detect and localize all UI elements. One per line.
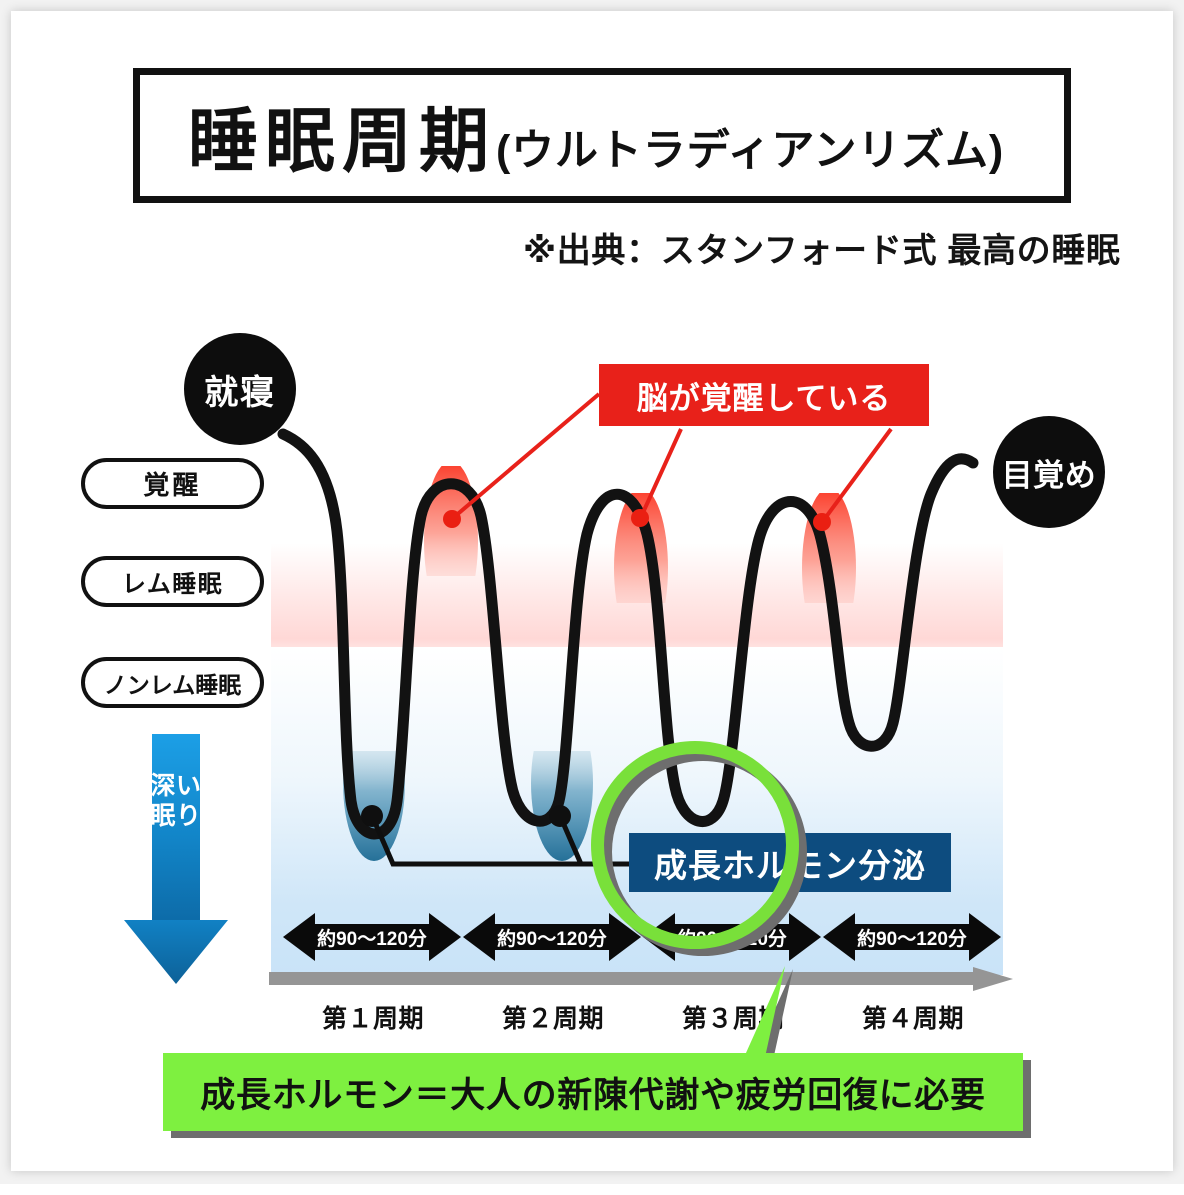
highlight-ring-icon bbox=[591, 741, 799, 949]
infographic-canvas: 睡眠周期(ウルトラディアンリズム) ※出典：スタンフォード式 最高の睡眠 覚醒 … bbox=[0, 0, 1184, 1184]
bottom-banner: 成長ホルモン＝大人の新陳代謝や疲労回復に必要 bbox=[163, 1053, 1023, 1131]
bottom-banner-text: 成長ホルモン＝大人の新陳代謝や疲労回復に必要 bbox=[200, 1067, 985, 1118]
sleep-cycle-curve bbox=[11, 11, 1184, 1195]
callout-brain-awake: 脳が覚醒している bbox=[599, 364, 929, 426]
white-card: 睡眠周期(ウルトラディアンリズム) ※出典：スタンフォード式 最高の睡眠 覚醒 … bbox=[11, 11, 1173, 1171]
callout-brain-awake-text: 脳が覚醒している bbox=[637, 373, 892, 418]
